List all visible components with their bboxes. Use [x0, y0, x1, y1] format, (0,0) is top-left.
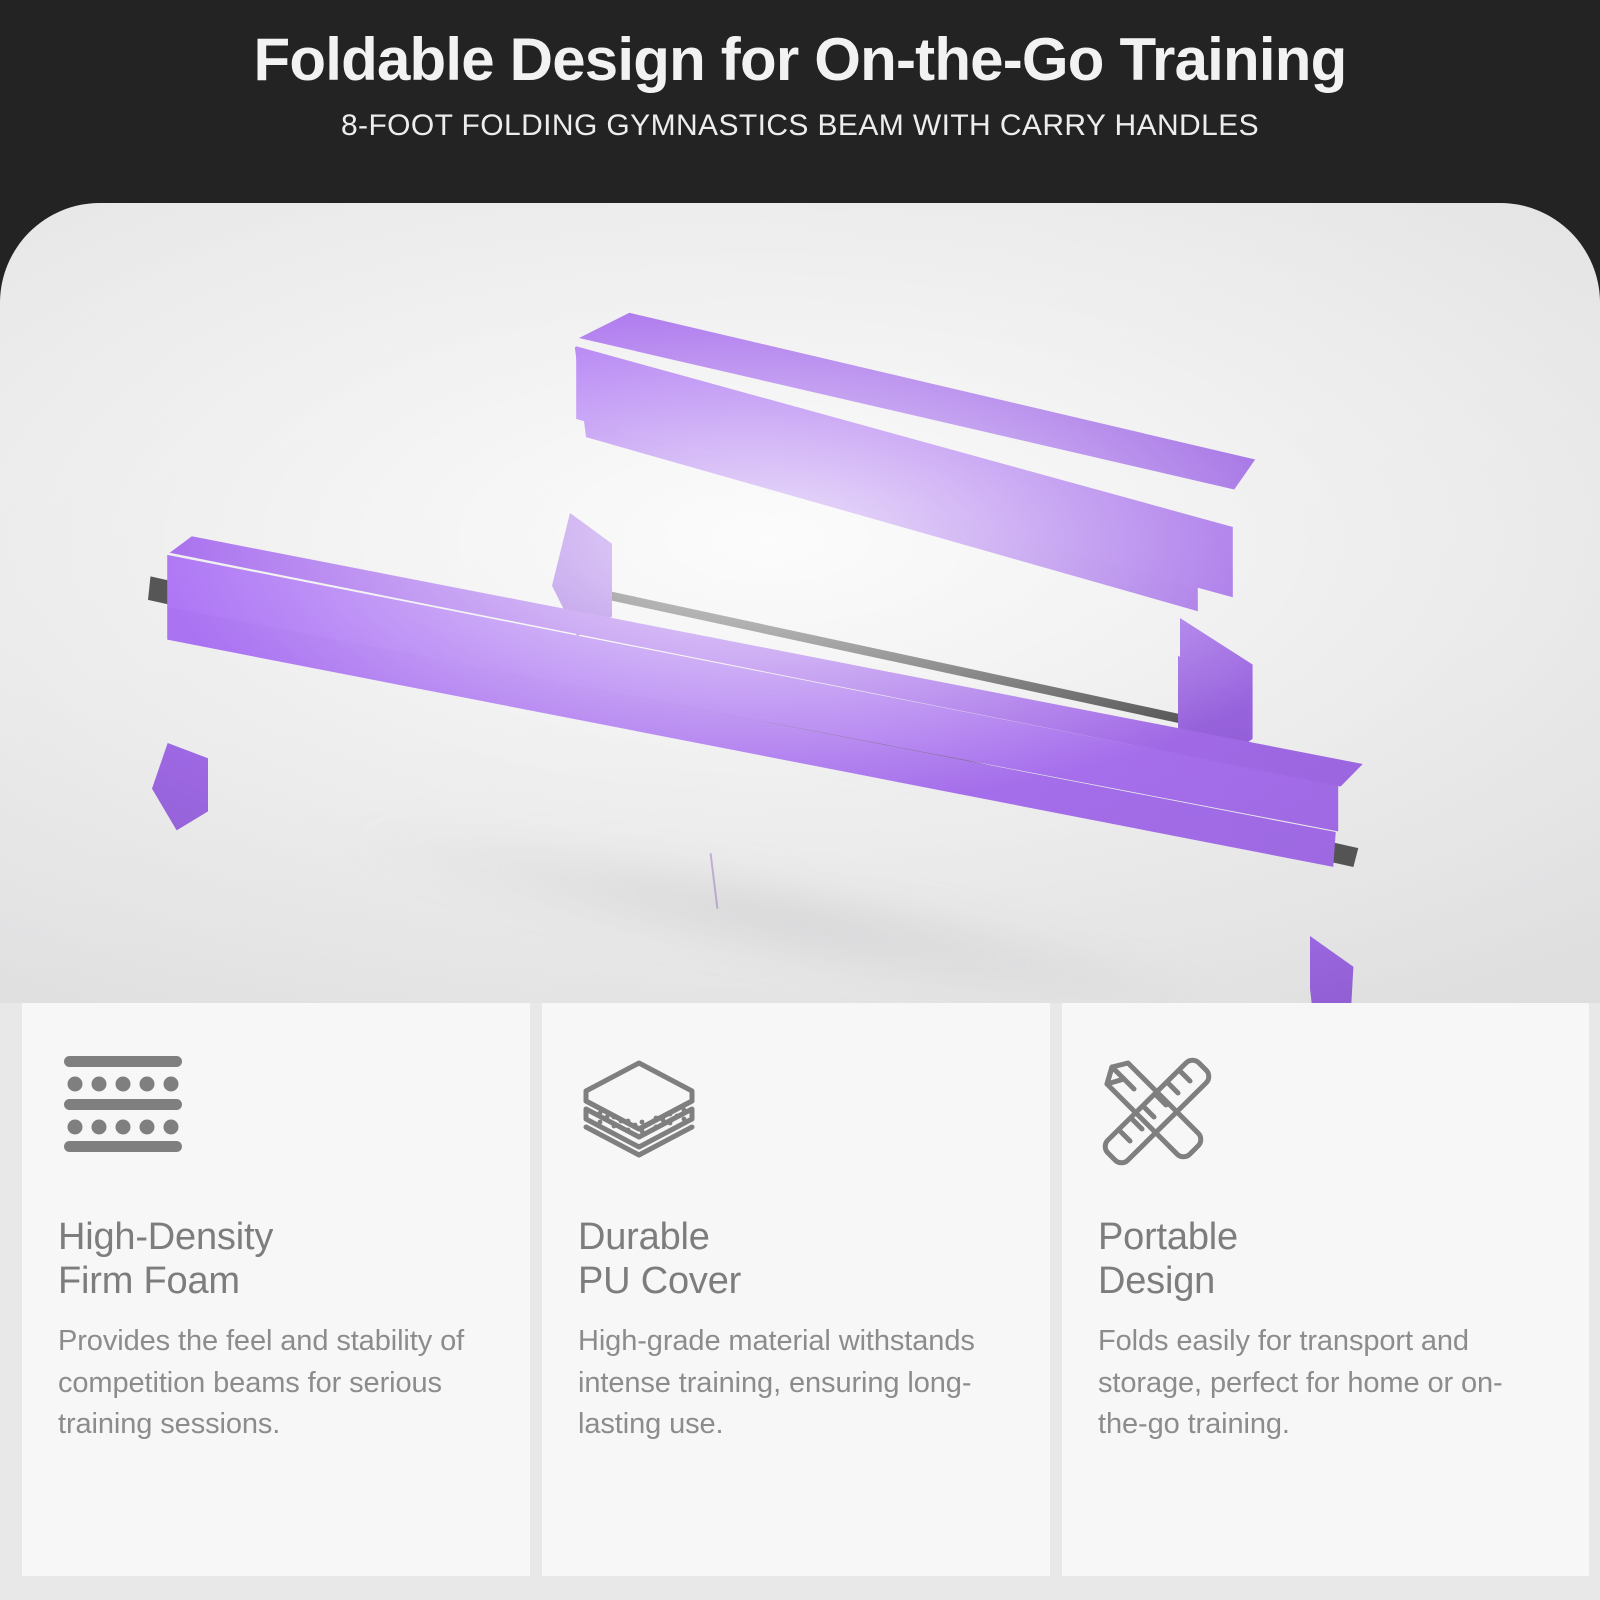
feature-description: Provides the feel and stability of compe… — [58, 1321, 486, 1445]
feature-title: Portable Design — [1098, 1215, 1545, 1303]
page-title: Foldable Design for On-the-Go Training — [254, 28, 1347, 93]
feature-description: Folds easily for transport and storage, … — [1098, 1321, 1545, 1445]
feature-title: Durable PU Cover — [578, 1215, 1006, 1303]
layered-cushion-icon — [578, 1055, 1006, 1175]
product-hero-panel — [0, 203, 1600, 1003]
foam-layers-icon — [58, 1055, 486, 1175]
feature-card-portable-design: Portable Design Folds easily for transpo… — [1062, 1003, 1589, 1576]
feature-title: High-Density Firm Foam — [58, 1215, 486, 1303]
pencil-ruler-icon — [1098, 1055, 1545, 1175]
feature-card-durable-pu-cover: Durable PU Cover High-grade material wit… — [542, 1003, 1050, 1576]
product-image-stage — [0, 203, 1600, 1003]
feature-description: High-grade material withstands intense t… — [578, 1321, 1006, 1445]
header-banner: Foldable Design for On-the-Go Training 8… — [0, 0, 1600, 205]
unfolded-beam-product — [0, 203, 1600, 1003]
page-subtitle: 8-FOOT FOLDING GYMNASTICS BEAM WITH CARR… — [341, 109, 1259, 143]
feature-card-row: High-Density Firm Foam Provides the feel… — [0, 1003, 1600, 1600]
feature-card-high-density-firm-foam: High-Density Firm Foam Provides the feel… — [22, 1003, 530, 1576]
